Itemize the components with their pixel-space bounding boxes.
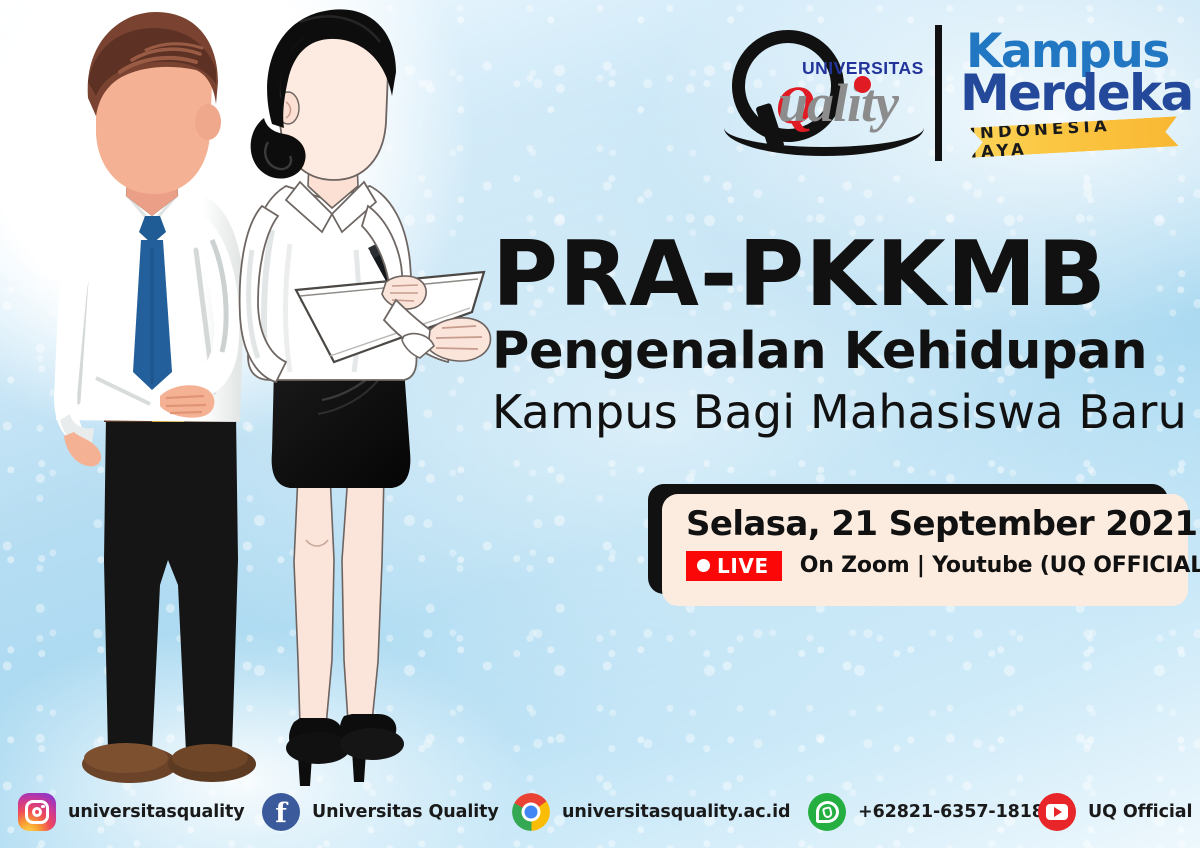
event-info-box-body: Selasa, 21 September 2021 LIVE On Zoom |… <box>662 494 1188 606</box>
kampus-merdeka-line2: Merdeka <box>960 68 1192 118</box>
event-channels: On Zoom | Youtube (UQ OFFICIAL) <box>800 553 1200 578</box>
universitas-quality-logo: Q uality UNIVERSITAS <box>718 30 928 156</box>
footer-label-youtube: UQ Official <box>1088 802 1192 822</box>
youtube-icon[interactable] <box>1038 793 1076 831</box>
footer-item-website[interactable]: universitasquality.ac.id <box>512 793 790 831</box>
headline-block: PRA-PKKMB Pengenalan Kehidupan Kampus Ba… <box>492 232 1192 440</box>
footer-item-facebook[interactable]: f Universitas Quality <box>262 793 499 831</box>
chrome-icon[interactable] <box>512 793 550 831</box>
facebook-icon[interactable]: f <box>262 793 300 831</box>
footer-label-whatsapp: +62821-6357-1818 <box>858 802 1044 822</box>
logo-divider <box>935 25 942 161</box>
footer-item-youtube[interactable]: UQ Official <box>1038 793 1192 831</box>
footer-item-instagram[interactable]: universitasquality <box>18 793 245 831</box>
poster-subtitle-line2: Kampus Bagi Mahasiswa Baru <box>492 385 1192 440</box>
logo-quality-text: uality <box>778 76 898 130</box>
two-students-illustration <box>0 0 520 820</box>
footer-label-website: universitasquality.ac.id <box>562 802 790 822</box>
poster-canvas: Q uality UNIVERSITAS Kampus Merdeka INDO… <box>0 0 1200 848</box>
social-footer-bar: universitasquality f Universitas Quality… <box>0 776 1200 848</box>
kampus-merdeka-logo: Kampus Merdeka INDONESIA JAYA <box>958 22 1188 164</box>
poster-title: PRA-PKKMB <box>492 232 1192 318</box>
footer-item-whatsapp[interactable]: +62821-6357-1818 <box>808 793 1044 831</box>
footer-label-instagram: universitasquality <box>68 802 245 822</box>
male-student-figure <box>54 12 256 783</box>
event-info-box: Selasa, 21 September 2021 LIVE On Zoom |… <box>648 484 1188 608</box>
whatsapp-icon[interactable] <box>808 793 846 831</box>
footer-label-facebook: Universitas Quality <box>312 802 499 822</box>
kampus-merdeka-ribbon: INDONESIA JAYA <box>969 116 1178 158</box>
event-channel-row: LIVE On Zoom | Youtube (UQ OFFICIAL) <box>686 551 1188 581</box>
live-label: LIVE <box>717 556 769 576</box>
logo-universitas-text: UNIVERSITAS <box>802 58 924 79</box>
instagram-icon[interactable] <box>18 793 56 831</box>
female-student-figure <box>240 9 491 786</box>
live-badge: LIVE <box>686 551 782 581</box>
poster-subtitle-line1: Pengenalan Kehidupan <box>492 322 1192 382</box>
event-date: Selasa, 21 September 2021 <box>686 506 1188 543</box>
logo-row: Q uality UNIVERSITAS Kampus Merdeka INDO… <box>718 22 1188 164</box>
live-dot-icon <box>697 559 710 572</box>
